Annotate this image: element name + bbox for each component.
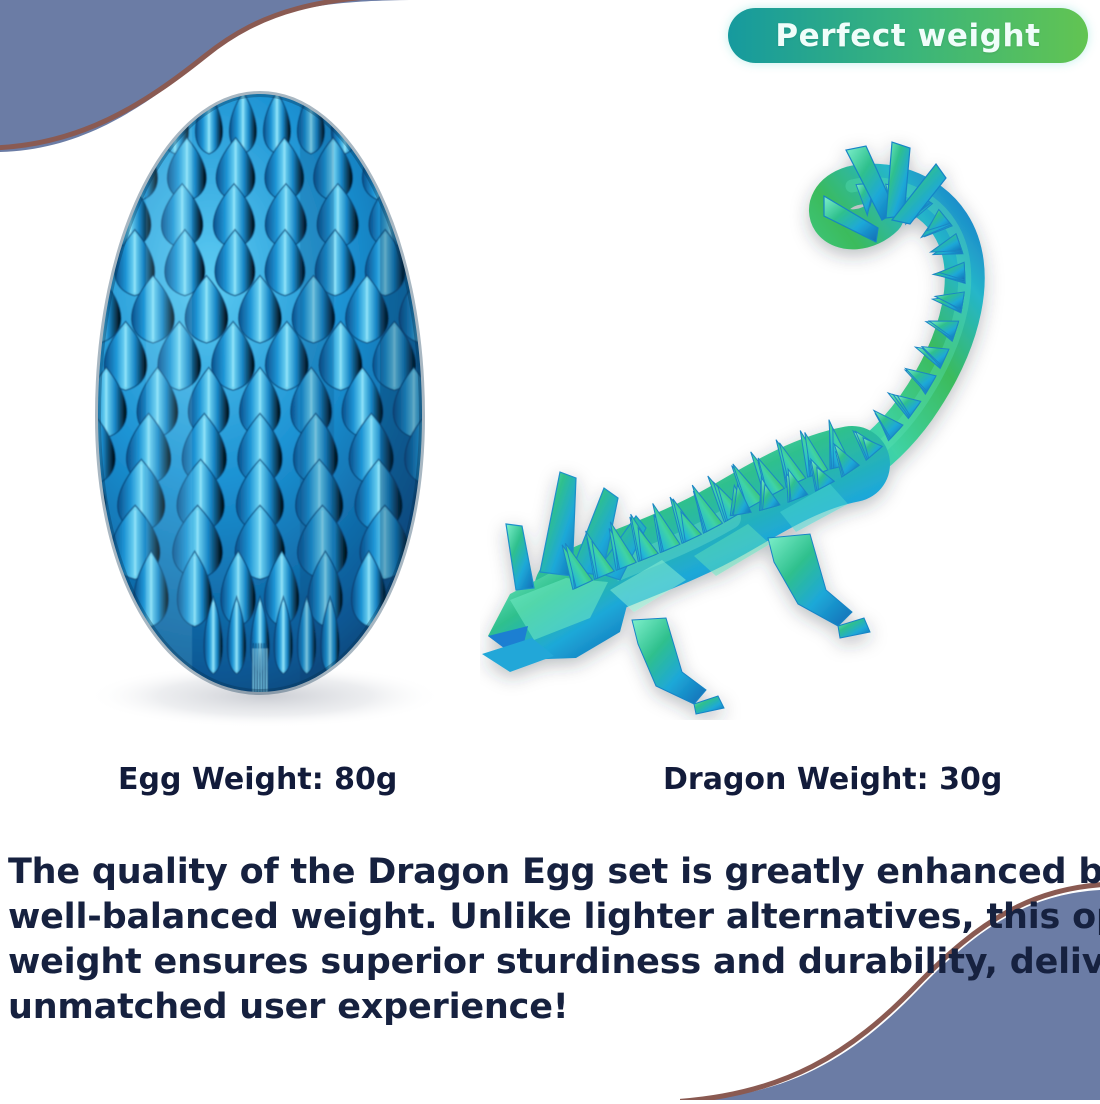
description-line: well-balanced weight. Unlike lighter alt… [8,895,1098,940]
dragon-weight-caption: Dragon Weight: 30g [663,762,1002,797]
description-paragraph: The quality of the Dragon Egg set is gre… [8,850,1098,1030]
badge-label: Perfect weight [775,18,1040,54]
description-line: unmatched user experience! [8,985,1098,1030]
description-line: The quality of the Dragon Egg set is gre… [8,850,1098,895]
perfect-weight-badge: Perfect weight [728,8,1088,63]
dragon-egg-photo [50,86,470,726]
egg-weight-caption: Egg Weight: 80g [118,762,397,797]
crystal-dragon-photo [480,120,1100,720]
description-line: weight ensures superior sturdiness and d… [8,940,1098,985]
